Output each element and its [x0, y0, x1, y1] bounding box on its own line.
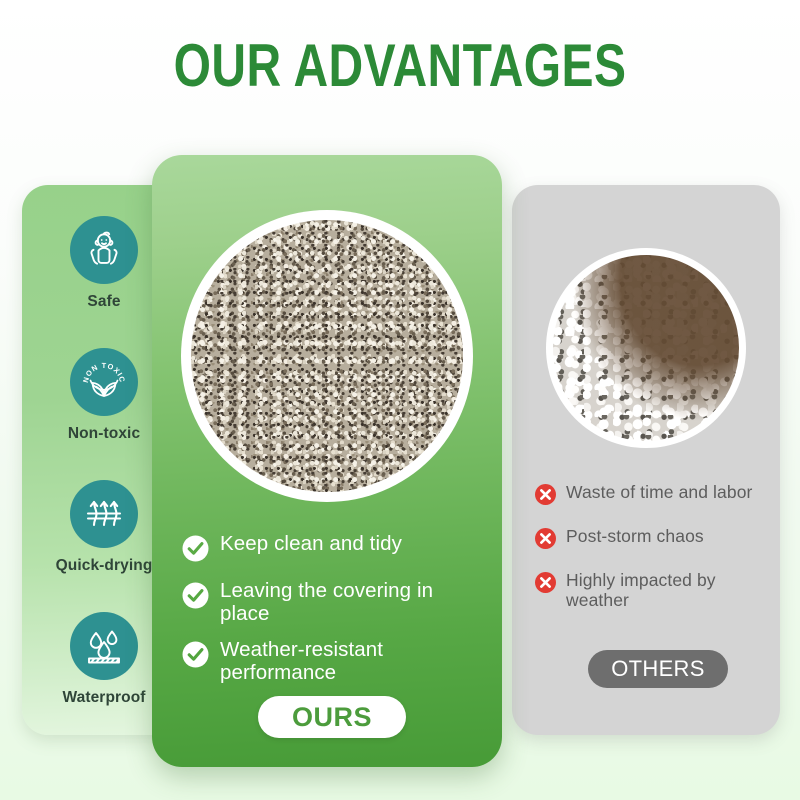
ours-card: Keep clean and tidy Leaving the covering… — [152, 155, 502, 767]
fine-gravel-texture — [191, 220, 463, 492]
drawback-text: Post-storm chaos — [566, 526, 704, 546]
list-item: Waste of time and labor — [534, 482, 782, 511]
cross-circle-icon — [534, 483, 557, 511]
benefit-text: Weather-resistant performance — [220, 639, 482, 685]
list-item: Leaving the covering in place — [182, 580, 482, 626]
cross-circle-icon — [534, 571, 557, 599]
check-circle-icon — [182, 641, 209, 673]
benefit-text: Keep clean and tidy — [220, 533, 402, 556]
list-item: Post-storm chaos — [534, 526, 782, 555]
list-item: Weather-resistant performance — [182, 639, 482, 685]
page-title: OUR ADVANTAGES — [80, 36, 720, 96]
quick-drying-arrows-icon — [70, 480, 138, 548]
fine-gravel-photo — [181, 210, 473, 502]
check-circle-icon — [182, 582, 209, 614]
drawback-text: Waste of time and labor — [566, 482, 752, 502]
coarse-stone-photo — [546, 248, 746, 448]
check-circle-icon — [182, 535, 209, 567]
others-badge: OTHERS — [588, 650, 728, 688]
non-toxic-leaf-icon: NON TOXIC — [70, 348, 138, 416]
ours-badge: OURS — [258, 696, 406, 738]
cross-circle-icon — [534, 527, 557, 555]
list-item: Keep clean and tidy — [182, 533, 482, 567]
waterproof-droplets-icon — [70, 612, 138, 680]
benefit-text: Leaving the covering in place — [220, 580, 482, 626]
benefits-list: Keep clean and tidy Leaving the covering… — [182, 533, 482, 698]
coarse-stone-texture — [553, 255, 739, 441]
baby-safe-icon — [70, 216, 138, 284]
svg-text:NON TOXIC: NON TOXIC — [81, 361, 127, 384]
drawback-text: Highly impacted by weather — [566, 570, 782, 610]
drawbacks-list: Waste of time and labor Post-storm chaos… — [534, 482, 782, 625]
list-item: Highly impacted by weather — [534, 570, 782, 610]
